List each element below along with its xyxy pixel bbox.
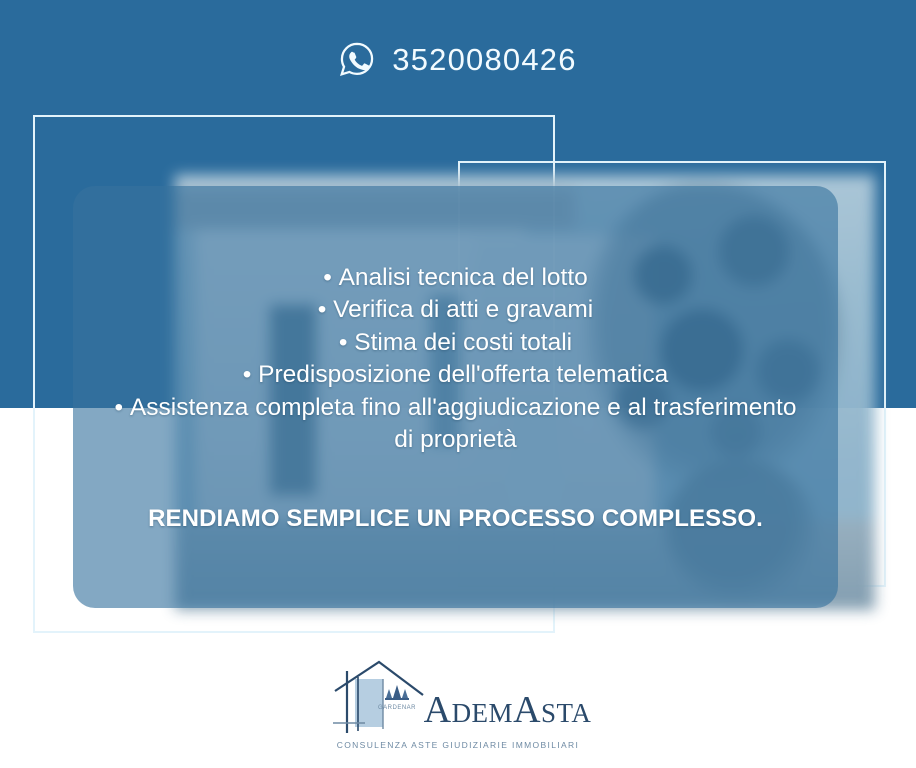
brand-logo: GARDENAR ADEMASTA CONSULENZA ASTE GIUDIZ…: [0, 657, 916, 750]
house-outline-icon: GARDENAR: [325, 657, 430, 735]
card-tagline: RENDIAMO SEMPLICE UN PROCESSO COMPLESSO.: [148, 505, 763, 533]
list-item: Analisi tecnica del lotto: [73, 262, 838, 295]
services-card: Analisi tecnica del lotto Verifica di at…: [73, 186, 838, 608]
logo-word-sta: STA: [541, 698, 591, 728]
list-item: Verifica di atti e gravami: [73, 294, 838, 327]
list-item: Assistenza completa fino all'aggiudicazi…: [73, 392, 838, 457]
list-item: Predisposizione dell'offerta telematica: [73, 359, 838, 392]
logo-word-a2: A: [513, 689, 541, 731]
list-item: Stima dei costi totali: [73, 327, 838, 360]
phone-number[interactable]: 3520080426: [392, 44, 576, 75]
services-bullet-list: Analisi tecnica del lotto Verifica di at…: [73, 262, 838, 457]
logo-main-row: GARDENAR ADEMASTA: [325, 657, 592, 735]
logo-tagline: CONSULENZA ASTE GIUDIZIARIE IMMOBILIARI: [337, 740, 580, 750]
logo-word-dem: DEM: [452, 698, 514, 728]
logo-wordmark: ADEMASTA: [424, 691, 592, 735]
whatsapp-icon[interactable]: [339, 41, 375, 77]
logo-mark-inner-label: GARDENAR: [378, 705, 416, 711]
poster-canvas: 3520080426 Analisi tecnica del lotto Ver…: [0, 0, 916, 768]
contact-header: 3520080426: [0, 34, 916, 84]
